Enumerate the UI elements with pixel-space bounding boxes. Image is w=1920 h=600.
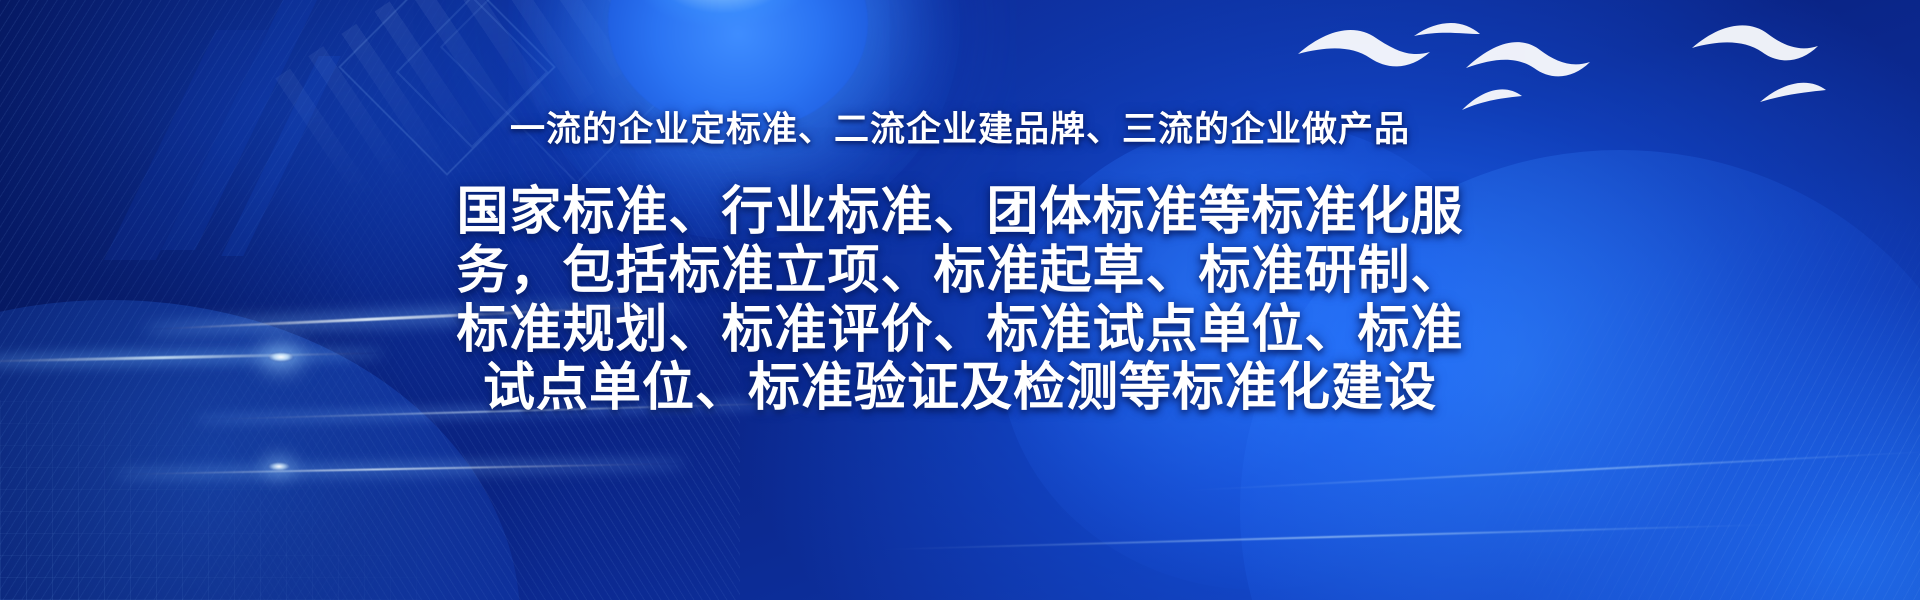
banner-body-copy: 国家标准、行业标准、团体标准等标准化服 务，包括标准立项、标准起草、标准研制、 … bbox=[320, 183, 1600, 418]
body-line: 国家标准、行业标准、团体标准等标准化服 bbox=[320, 183, 1600, 242]
body-line: 试点单位、标准验证及检测等标准化建设 bbox=[320, 359, 1600, 418]
body-line: 务，包括标准立项、标准起草、标准研制、 bbox=[320, 242, 1600, 301]
banner-text-block: 一流的企业定标准、二流企业建品牌、三流的企业做产品 国家标准、行业标准、团体标准… bbox=[0, 0, 1920, 600]
banner-headline: 一流的企业定标准、二流企业建品牌、三流的企业做产品 bbox=[510, 112, 1410, 147]
body-line: 标准规划、标准评价、标准试点单位、标准 bbox=[320, 301, 1600, 360]
promo-banner: 一流的企业定标准、二流企业建品牌、三流的企业做产品 国家标准、行业标准、团体标准… bbox=[0, 0, 1920, 600]
